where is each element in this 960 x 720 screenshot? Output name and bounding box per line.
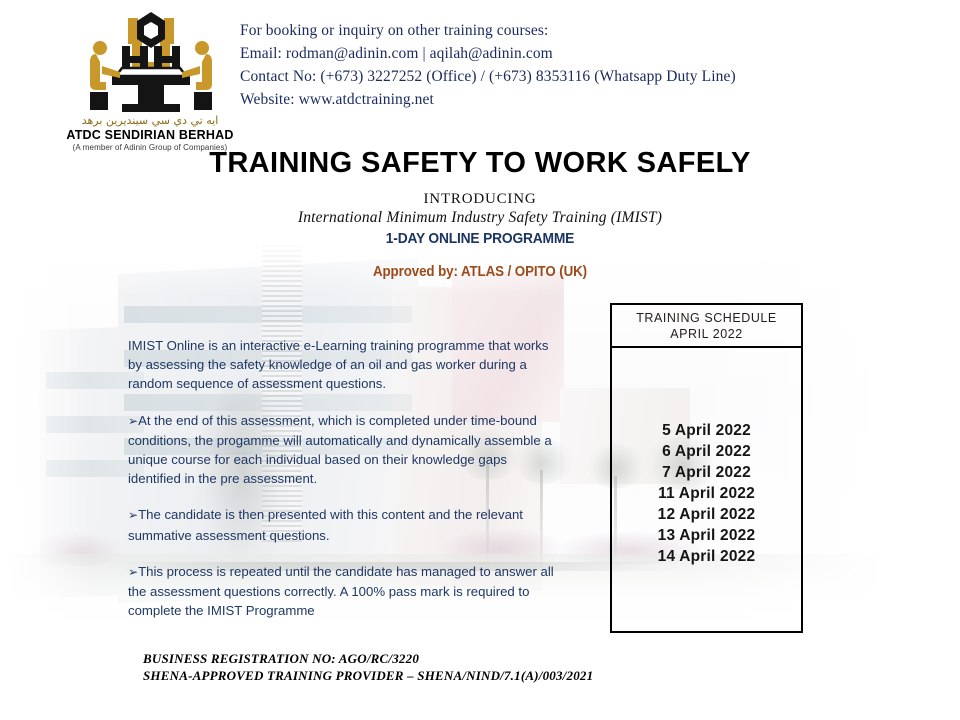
photo-window-band bbox=[124, 306, 412, 323]
schedule-date-item: 11 April 2022 bbox=[612, 483, 801, 504]
body-paragraph-assessment: ➢At the end of this assessment, which is… bbox=[128, 411, 560, 489]
schedule-date-item: 6 April 2022 bbox=[612, 441, 801, 462]
body-paragraph-candidate: ➢The candidate is then presented with th… bbox=[128, 505, 560, 544]
logo-company-name: ATDC SENDIRIAN BERHAD bbox=[52, 128, 248, 142]
schedule-date-item: 13 April 2022 bbox=[612, 525, 801, 546]
atdc-emblem-icon bbox=[76, 10, 226, 114]
schedule-header-month: APRIL 2022 bbox=[612, 326, 801, 342]
schedule-header-title: TRAINING SCHEDULE bbox=[612, 310, 801, 326]
contact-line-email: Email: rodman@adinin.com | aqilah@adinin… bbox=[240, 42, 800, 65]
programme-duration: 1-DAY ONLINE PROGRAMME bbox=[38, 230, 921, 247]
programme-name: International Minimum Industry Safety Tr… bbox=[0, 209, 960, 227]
contact-line-website: Website: www.atdctraining.net bbox=[240, 88, 800, 111]
photo-shrub bbox=[30, 532, 122, 566]
photo-fade-left bbox=[0, 232, 90, 642]
schedule-date-item: 5 April 2022 bbox=[612, 420, 801, 441]
schedule-date-item: 12 April 2022 bbox=[612, 504, 801, 525]
logo-jawi-script: ايه تي دي سي سينديرين برهد bbox=[52, 114, 248, 127]
body-copy: IMIST Online is an interactive e-Learnin… bbox=[128, 336, 560, 620]
body-paragraph-assessment-text: At the end of this assessment, which is … bbox=[128, 413, 552, 487]
bullet-arrow-icon: ➢ bbox=[128, 508, 138, 522]
body-paragraph-repeat-text: This process is repeated until the candi… bbox=[128, 564, 554, 618]
atdc-logo: ايه تي دي سي سينديرين برهد ATDC SENDIRIA… bbox=[52, 10, 248, 152]
body-paragraph-candidate-text: The candidate is then presented with thi… bbox=[128, 507, 523, 542]
introducing-label: INTRODUCING bbox=[0, 191, 960, 208]
body-paragraph-repeat: ➢This process is repeated until the cand… bbox=[128, 562, 560, 621]
footer-business-registration: BUSINESS REGISTRATION NO: AGO/RC/3220 bbox=[143, 650, 593, 667]
approved-by-label: Approved by: ATLAS / OPITO (UK) bbox=[38, 264, 921, 280]
contact-line-booking: For booking or inquiry on other training… bbox=[240, 19, 800, 42]
schedule-date-list: 5 April 2022 6 April 2022 7 April 2022 1… bbox=[612, 348, 801, 567]
contact-line-phone: Contact No: (+673) 3227252 (Office) / (+… bbox=[240, 65, 800, 88]
body-paragraph-intro: IMIST Online is an interactive e-Learnin… bbox=[128, 336, 560, 394]
schedule-date-item: 7 April 2022 bbox=[612, 462, 801, 483]
training-schedule-box: TRAINING SCHEDULE APRIL 2022 5 April 202… bbox=[610, 303, 803, 633]
schedule-date-item: 14 April 2022 bbox=[612, 546, 801, 567]
page-title: TRAINING SAFETY TO WORK SAFELY bbox=[0, 147, 960, 180]
schedule-header: TRAINING SCHEDULE APRIL 2022 bbox=[612, 305, 801, 348]
bullet-arrow-icon: ➢ bbox=[128, 565, 138, 579]
footer-shena-approval: SHENA-APPROVED TRAINING PROVIDER – SHENA… bbox=[143, 667, 593, 684]
bullet-arrow-icon: ➢ bbox=[128, 414, 138, 428]
footer-registration: BUSINESS REGISTRATION NO: AGO/RC/3220 SH… bbox=[143, 650, 593, 684]
contact-block: For booking or inquiry on other training… bbox=[240, 19, 800, 111]
flyer-page: ايه تي دي سي سينديرين برهد ATDC SENDIRIA… bbox=[0, 0, 960, 720]
